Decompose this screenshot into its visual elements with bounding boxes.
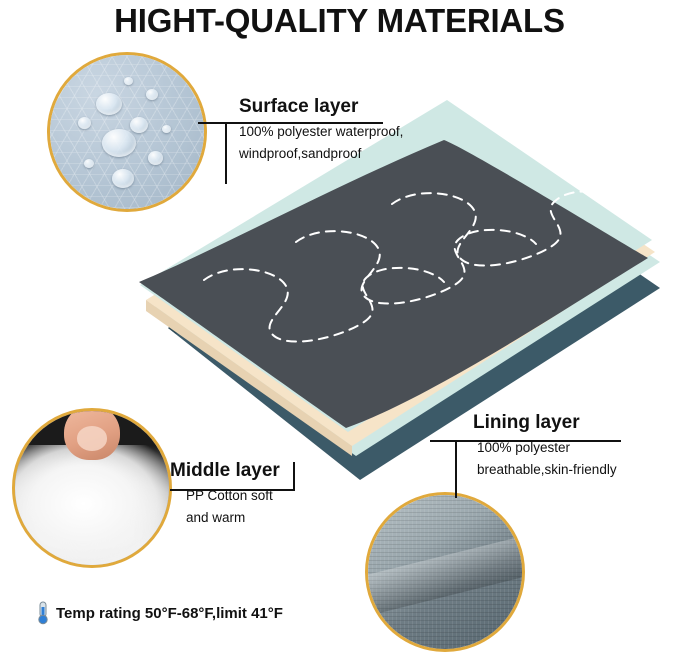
lining-layer-photo bbox=[365, 492, 525, 652]
lining-layer-heading: Lining layer bbox=[473, 412, 617, 434]
middle-layer-heading: Middle layer bbox=[170, 460, 280, 482]
middle-layer-photo bbox=[12, 408, 172, 568]
callout-surface-layer: Surface layer 100% polyester waterproof,… bbox=[225, 96, 403, 168]
temp-rating-row: Temp rating 50°F-68°F,limit 41°F bbox=[36, 601, 283, 625]
bottom-layer-edge bbox=[168, 148, 462, 334]
callout-lining-layer: Lining layer 100% polyester breathable,s… bbox=[455, 412, 617, 484]
lining-callout-leader-line bbox=[430, 440, 456, 442]
page-title: HIGHT-QUALITY MATERIALS bbox=[0, 2, 679, 40]
middle-callout-horizontal-rule bbox=[170, 489, 295, 491]
top-layer-shape bbox=[139, 140, 648, 428]
middle-layer-edge bbox=[146, 300, 352, 456]
quilting-stitch-lines bbox=[204, 191, 616, 341]
temp-rating-label: Temp rating 50°F-68°F,limit 41°F bbox=[56, 605, 283, 622]
middle-callout-vertical-rule bbox=[293, 462, 295, 490]
surface-callout-leader-line bbox=[198, 122, 226, 124]
surface-callout-horizontal-rule bbox=[225, 122, 383, 124]
middle-layer-line-2: and warm bbox=[186, 510, 280, 525]
surface-layer-photo bbox=[47, 52, 207, 212]
surface-layer-line-2: windproof,sandproof bbox=[239, 146, 403, 161]
surface-layer-line-1: 100% polyester waterproof, bbox=[239, 124, 403, 139]
surface-callout-vertical-rule bbox=[225, 122, 227, 184]
thermometer-icon bbox=[36, 601, 50, 625]
lining-callout-vertical-rule bbox=[455, 440, 457, 498]
surface-layer-heading: Surface layer bbox=[239, 96, 403, 118]
lining-layer-line-1: 100% polyester bbox=[477, 440, 617, 455]
callout-middle-layer: Middle layer PP Cotton soft and warm bbox=[150, 460, 280, 532]
product-materials-infographic: HIGHT-QUALITY MATERIALS bbox=[0, 0, 679, 655]
lining-layer-line-2: breathable,skin-friendly bbox=[477, 462, 617, 477]
lining-callout-horizontal-rule bbox=[455, 440, 621, 442]
